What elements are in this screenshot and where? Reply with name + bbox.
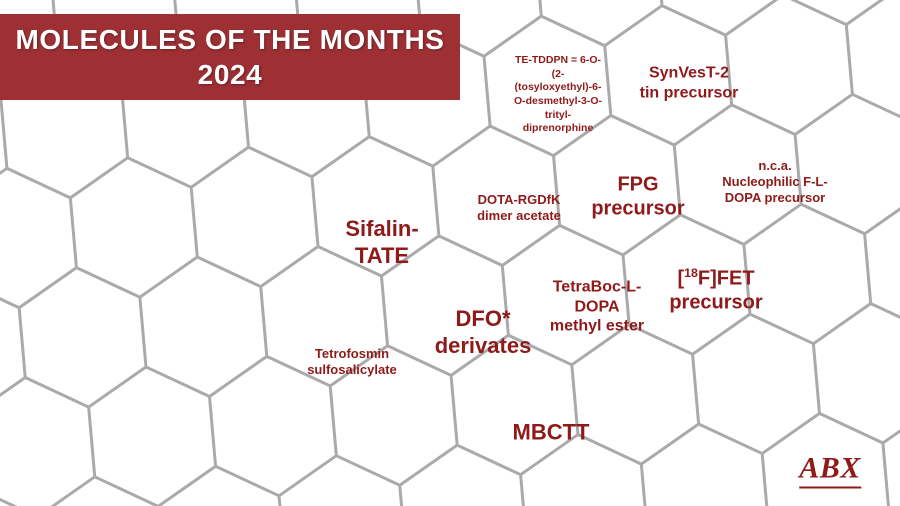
hex-mbctt[interactable]: MBCTT: [476, 420, 626, 447]
hex-sifalin-tate[interactable]: Sifalin-TATE: [307, 216, 457, 270]
hex-fpg-precursor[interactable]: FPGprecursor: [568, 173, 708, 222]
title-line-1: MOLECULES OF THE MONTHS: [15, 22, 444, 57]
hex-te-tddpn[interactable]: TE-TDDPN = 6-O-(2-(tosyloxyethyl)-6-O-de…: [498, 54, 618, 136]
hex-synvest-2[interactable]: SynVesT-2tin precursor: [614, 63, 764, 102]
title-line-2: 2024: [198, 57, 263, 92]
abx-logo: ABX: [799, 452, 861, 489]
molecules-of-the-months-poster: MOLECULES OF THE MONTHS 2024 TE-TDDPN = …: [0, 0, 900, 506]
hex-dfo-derivates[interactable]: DFO*derivates: [408, 306, 558, 360]
title-banner: MOLECULES OF THE MONTHS 2024: [0, 14, 460, 100]
hex-nca-nucleophilic-f-l-dopa-precursor[interactable]: n.c.a.Nucleophilic F-L-DOPA precursor: [700, 158, 850, 206]
hex-tetrofosmin-sulfosalicylate[interactable]: Tetrofosminsulfosalicylate: [277, 346, 427, 378]
